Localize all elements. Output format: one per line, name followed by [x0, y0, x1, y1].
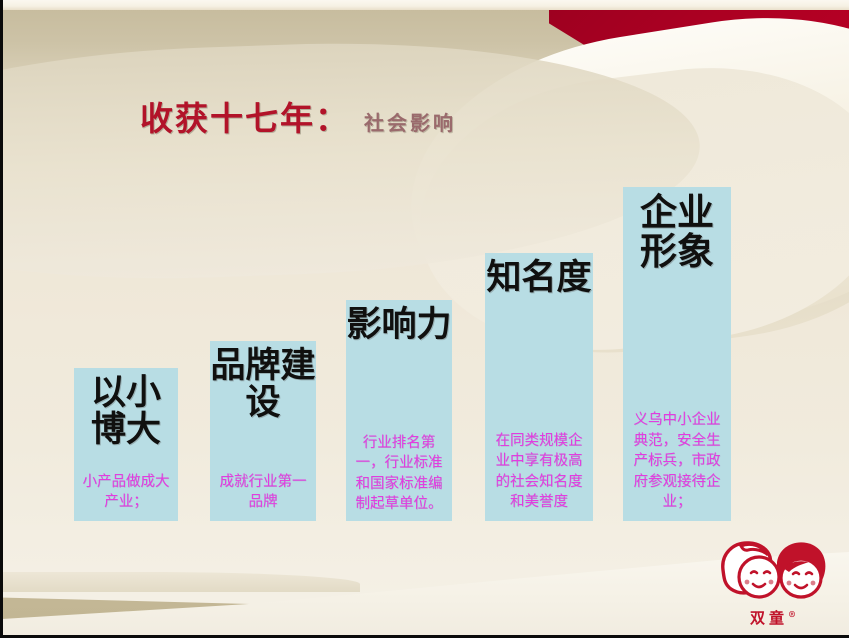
logo-wordmark: 双童®: [715, 607, 831, 628]
presentation-slide: 收获十七年： 社会影响 以小博大 小产品做成大产业； 品牌建设 成就行业第一品牌…: [0, 0, 849, 638]
company-logo: 双童®: [715, 534, 831, 632]
logo-wordmark-text: 双童: [750, 609, 788, 627]
chart-bar-2: 品牌建设 成就行业第一品牌: [210, 341, 316, 521]
chart-bar-5-body: 义乌中小企业典范，安全生产标兵，市政府参观接待企业；: [623, 410, 731, 513]
chart-bar-3-heading: 影响力: [346, 306, 452, 343]
chart-bar-2-body: 成就行业第一品牌: [210, 472, 316, 513]
slide-left-edge: [0, 0, 3, 638]
chart-bar-3-body: 行业排名第一，行业标准和国家标准编制起草单位。: [346, 433, 452, 515]
chart-bar-1-body: 小产品做成大产业；: [74, 472, 178, 513]
chart-bar-1-heading: 以小博大: [74, 374, 178, 448]
chart-bar-3: 影响力 行业排名第一，行业标准和国家标准编制起草单位。: [346, 300, 452, 521]
registered-trademark-icon: ®: [788, 609, 796, 619]
two-children-logo-icon: [715, 534, 831, 614]
chart-bar-4-heading: 知名度: [485, 259, 593, 296]
chart-bar-2-heading: 品牌建设: [210, 347, 316, 421]
chart-bar-4: 知名度 在同类规模企业中享有极高的社会知名度和美誉度: [485, 253, 593, 521]
chart-bar-5-heading: 企业形象: [623, 193, 731, 271]
chart-bar-5: 企业形象 义乌中小企业典范，安全生产标兵，市政府参观接待企业；: [623, 187, 731, 521]
chart-bar-4-body: 在同类规模企业中享有极高的社会知名度和美誉度: [485, 431, 593, 513]
chart-bar-1: 以小博大 小产品做成大产业；: [74, 368, 178, 521]
